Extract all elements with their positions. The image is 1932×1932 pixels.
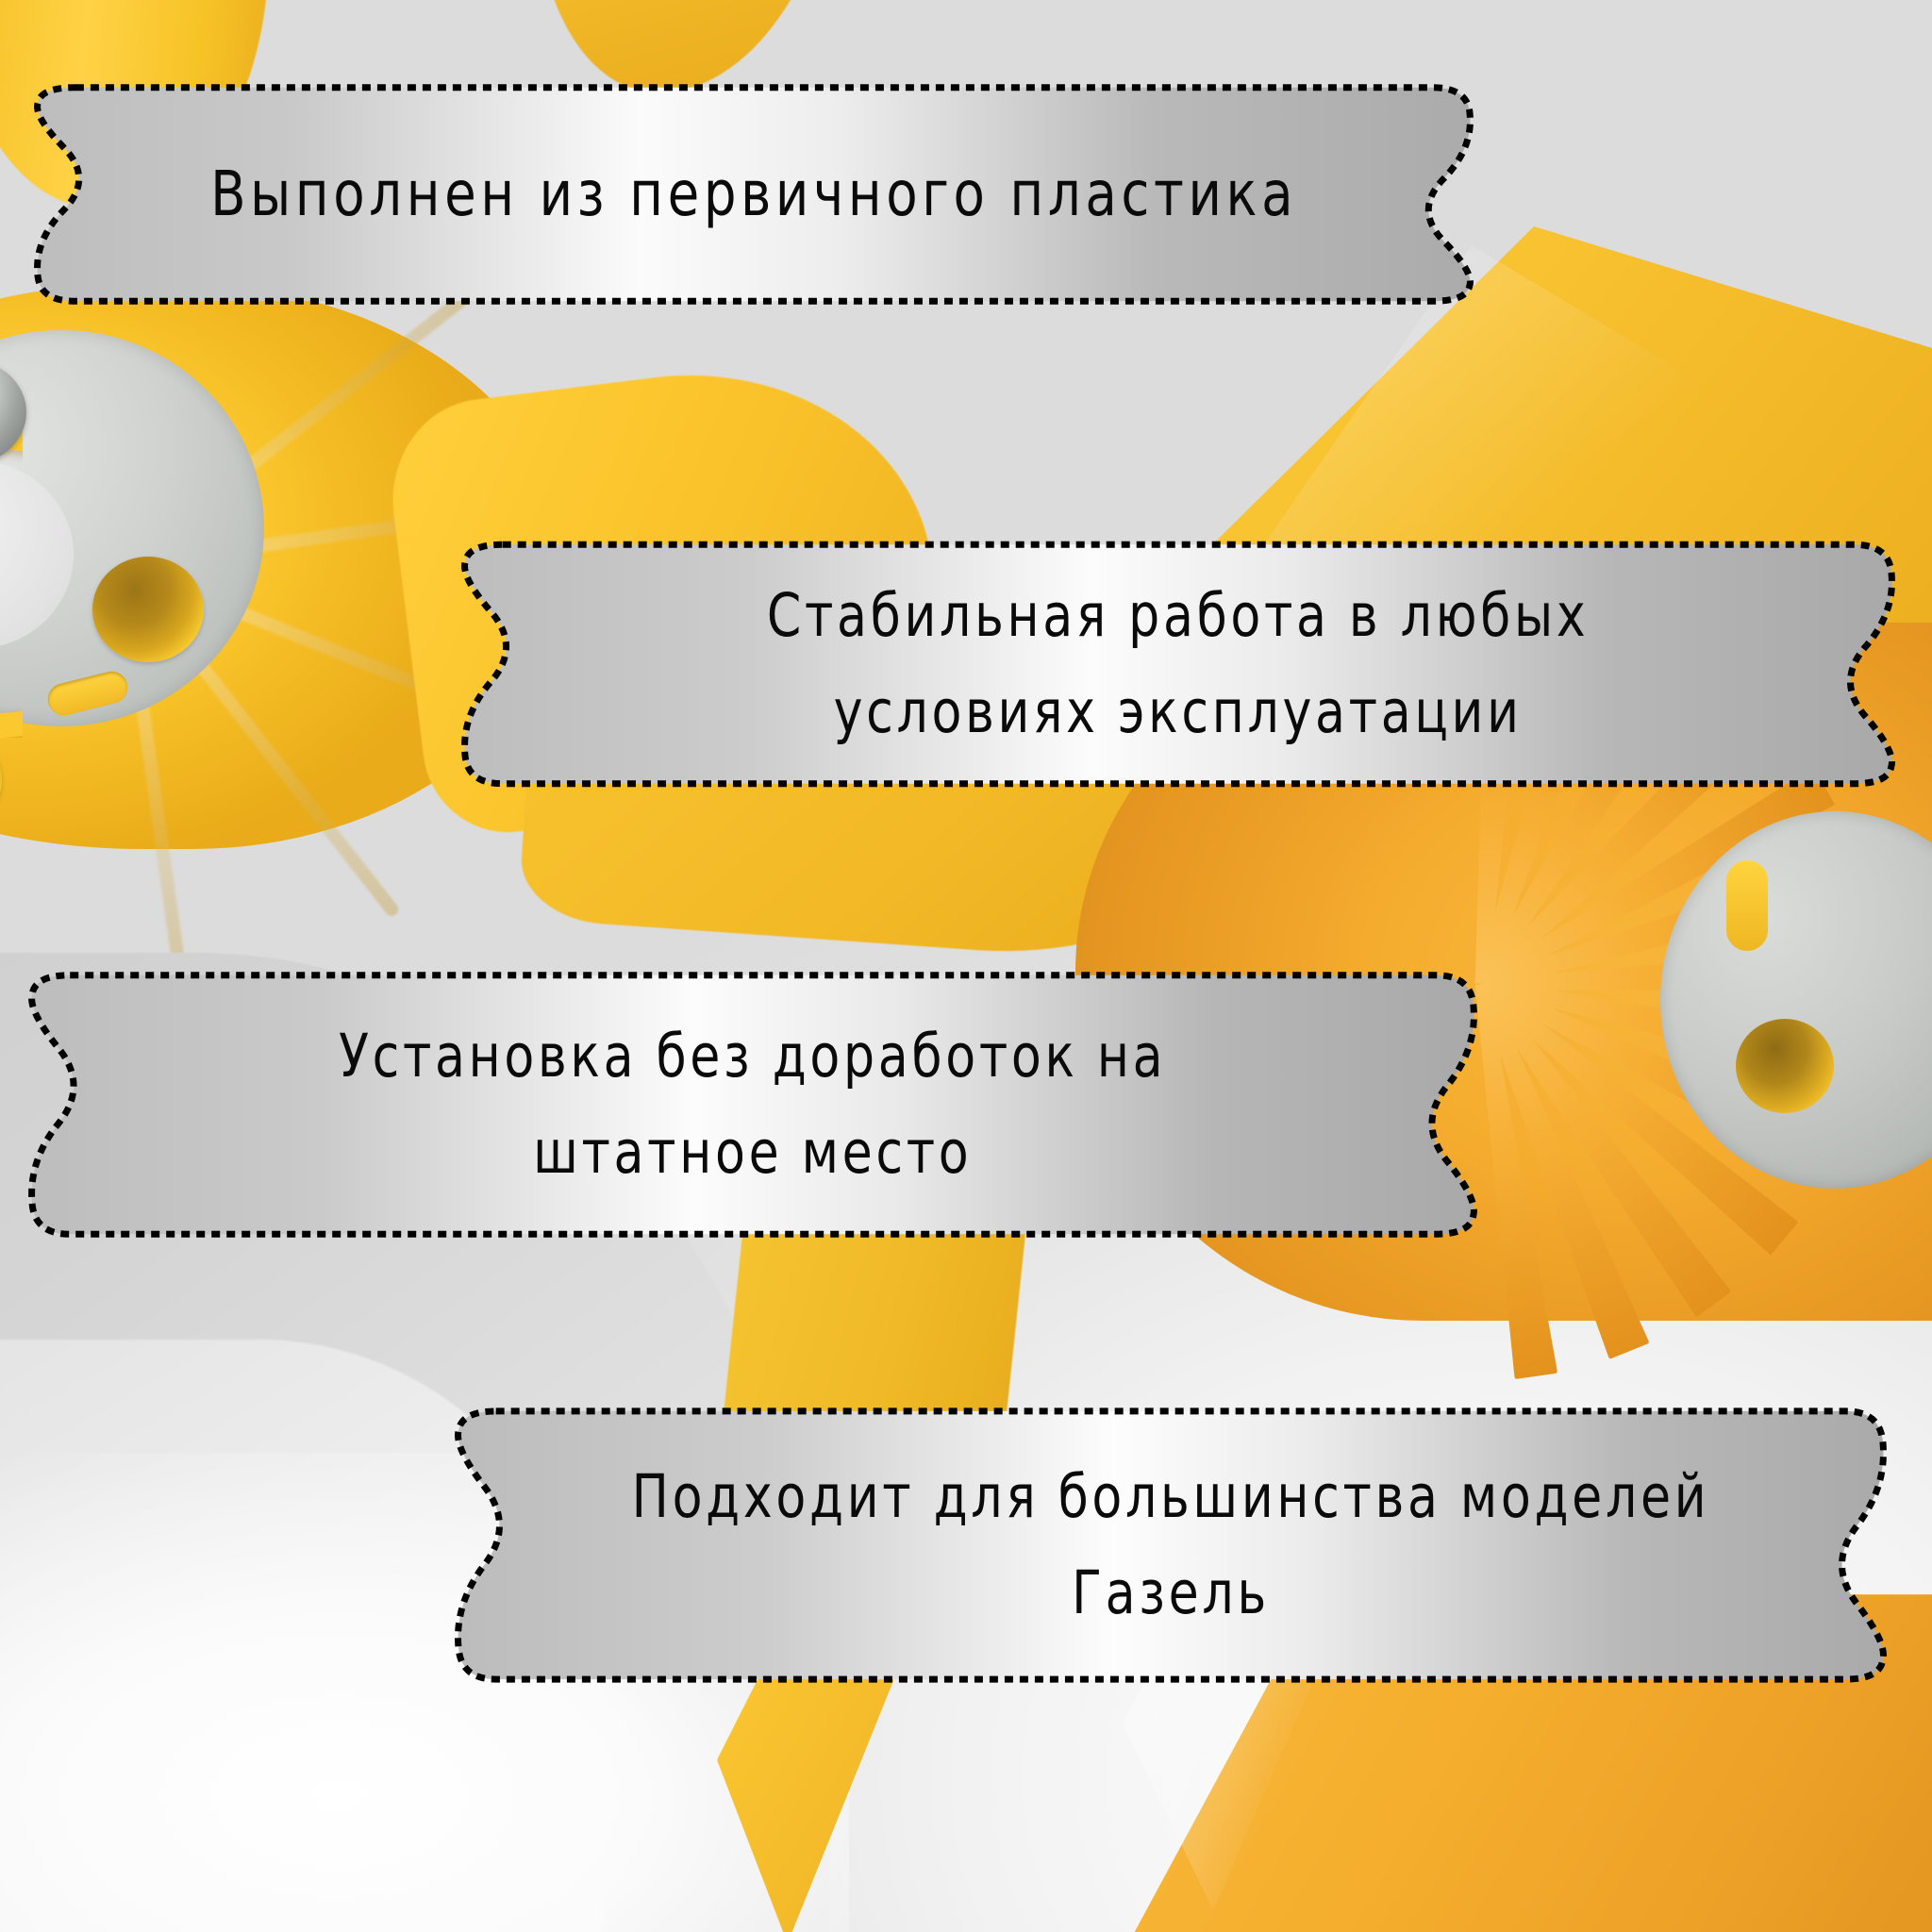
feature-banner-2: Стабильная работа в любых условиях экспл… [459, 540, 1897, 789]
banner-3-text: Установка без доработок на штатное место [339, 1008, 1166, 1201]
feature-banner-4: Подходит для большинства моделей Газель [453, 1406, 1889, 1685]
mounting-hole-icon [1736, 1019, 1834, 1113]
feature-banner-1: Выполнен из первичного пластика [32, 83, 1475, 306]
banner-4-text: Подходит для большинства моделей Газель [632, 1449, 1710, 1641]
feature-banner-3: Установка без доработок на штатное место [26, 970, 1479, 1240]
alignment-slot-icon [1726, 860, 1768, 951]
banner-2-text: Стабильная работа в любых условиях экспл… [767, 568, 1589, 760]
banner-1-text: Выполнен из первичного пластика [210, 144, 1297, 245]
mounting-hole-icon [92, 557, 204, 662]
